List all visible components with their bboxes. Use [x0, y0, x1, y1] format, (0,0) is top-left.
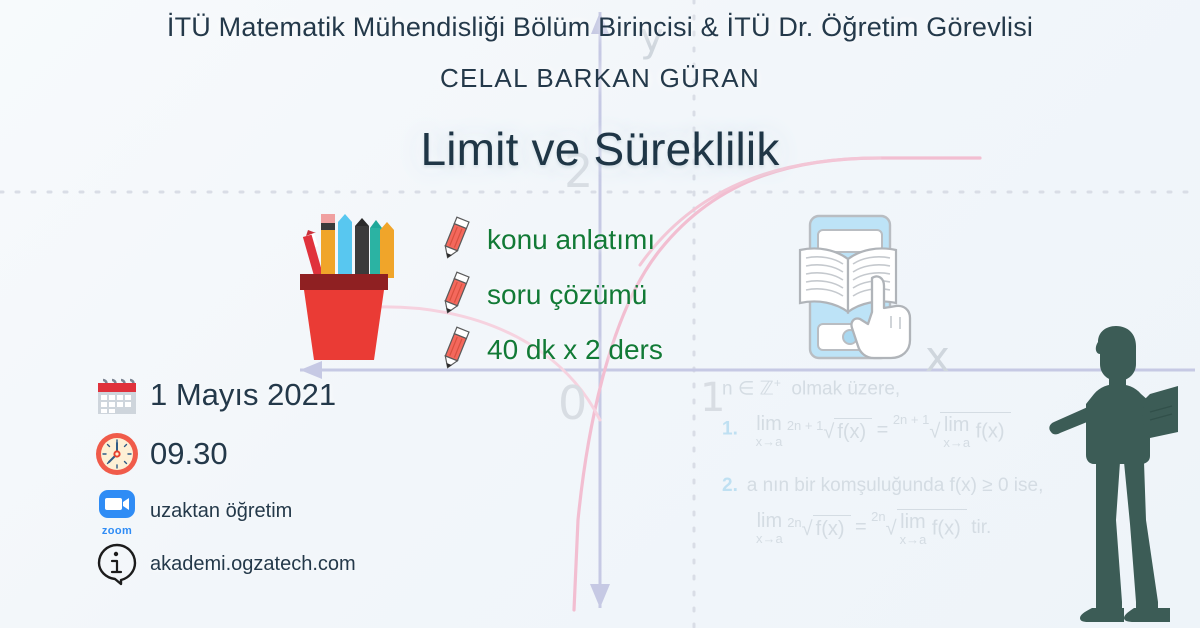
list-item-label: soru çözümü [487, 279, 647, 311]
math-item-1-right-lim-sub: x→a [943, 436, 970, 449]
math-premise-superscript: + [774, 376, 781, 390]
math-item-1-right-lim-op: lim [943, 415, 970, 435]
cup-body [304, 290, 384, 360]
pencil-cup-illustration [288, 200, 396, 366]
detail-row-time: 09.30 [84, 424, 356, 484]
book-right-page [1150, 386, 1178, 438]
pencil-darkgray [355, 218, 369, 278]
y-axis-arrowhead-bottom [590, 584, 610, 608]
poster-canvas: y x 2 0 1 İTÜ Matematik Mühendisliği Böl… [0, 0, 1200, 628]
clock-icon [84, 430, 150, 478]
math-item-2-suffix: tir. [971, 517, 991, 539]
list-item-label: 40 dk x 2 ders [487, 334, 663, 366]
event-details-list: 1 Mayıs 2021 09.30 [84, 366, 356, 590]
book-spine [1144, 394, 1150, 438]
math-item-1-radicand: f(x) [834, 418, 872, 444]
list-item: konu anlatımı [437, 212, 663, 267]
pencil-orange-eraser [321, 214, 335, 278]
math-item-1-lim: lim x→a [756, 414, 783, 448]
pencil-orange-2 [380, 222, 394, 278]
left-shoe [1080, 608, 1124, 622]
zoom-icon[interactable]: zoom [84, 485, 150, 537]
math-item-2-equals: = [855, 516, 867, 539]
detail-row-date: 1 Mayıs 2021 [84, 366, 356, 424]
math-item-1-right-radical: 2n + 1√ lim x→a f(x) [893, 412, 1011, 449]
detail-website-label: akademi.ogzatech.com [150, 553, 356, 576]
cup-rim [300, 274, 388, 290]
right-leg [1124, 462, 1158, 612]
left-arm [1049, 406, 1092, 434]
math-item-1-left-index: 2n + 1 [787, 418, 824, 433]
page-title: Limit ve Süreklilik [0, 122, 1200, 176]
detail-time-label: 09.30 [150, 436, 228, 472]
detail-date-label: 1 Mayıs 2021 [150, 377, 336, 413]
pencil-icon [437, 215, 473, 265]
math-item-1-right-index: 2n + 1 [893, 412, 930, 427]
detail-row-website[interactable]: akademi.ogzatech.com [84, 538, 356, 590]
info-bubble-icon [84, 541, 150, 587]
math-item-2-lim: lim x→a [756, 511, 783, 545]
math-item-2-left-index: 2n [787, 515, 801, 530]
pencil-icon [437, 270, 473, 320]
list-item: soru çözümü [437, 267, 663, 322]
pencil-red [303, 230, 323, 277]
head [1096, 326, 1136, 381]
math-item-1-lim-op: lim [756, 414, 783, 434]
math-item-2-right-index: 2n [871, 509, 885, 524]
math-item-2-lim-sub: x→a [756, 532, 783, 545]
math-item-1-left-radical: 2n + 1√f(x) [787, 418, 872, 444]
subtitle-credentials: İTÜ Matematik Mühendisliği Bölüm Birinci… [0, 12, 1200, 43]
left-leg [1096, 462, 1122, 612]
math-item-2-right-lim-sub: x→a [900, 533, 927, 546]
zoom-icon-caption: zoom [102, 525, 132, 537]
right-shoe [1124, 608, 1170, 622]
math-item-1-equals: = [877, 419, 889, 442]
pencil-lightblue [338, 214, 352, 278]
math-item-1-lim-sub: x→a [756, 435, 783, 448]
torso [1086, 384, 1150, 464]
math-item-1-number: 1. [722, 419, 738, 440]
calendar-icon [84, 371, 150, 419]
list-item: 40 dk x 2 ders [437, 322, 663, 377]
math-item-2-right-lim: lim x→a [900, 512, 927, 546]
instructor-name: CELAL BARKAN GÜRAN [0, 63, 1200, 94]
math-item-1-right-radicand: f(x) [976, 421, 1005, 443]
list-item-label: konu anlatımı [487, 224, 655, 256]
person-with-book-silhouette [1046, 324, 1196, 628]
math-item-2-right-lim-op: lim [900, 512, 927, 532]
detail-row-platform[interactable]: zoom uzaktan öğretim [84, 484, 356, 538]
math-item-2-left-radical: 2n√f(x) [787, 515, 850, 541]
math-item-1-right-lim: lim x→a [943, 415, 970, 449]
math-item-2-radicand: f(x) [813, 515, 851, 541]
detail-platform-label: uzaktan öğretim [150, 500, 292, 523]
math-item-2-lim-op: lim [756, 511, 783, 531]
pencil-icon [437, 325, 473, 375]
math-item-2-number: 2. [722, 475, 738, 496]
tablet-book-hand-illustration [792, 212, 924, 368]
math-premise-text: n ∈ ℤ [722, 378, 774, 399]
math-premise-tail: olmak üzere, [791, 378, 900, 399]
math-item-2-right-radicand: f(x) [932, 518, 961, 540]
x-axis-label: x [925, 336, 950, 378]
feature-list: konu anlatımı soru çözümü [437, 212, 663, 377]
math-item-2-right-radical: 2n√ lim x→a f(x) [871, 509, 967, 546]
axis-tick-0: 0 [558, 380, 587, 426]
math-item-2-statement-text: a nın bir komşuluğunda f(x) ≥ 0 ise, [747, 475, 1044, 496]
